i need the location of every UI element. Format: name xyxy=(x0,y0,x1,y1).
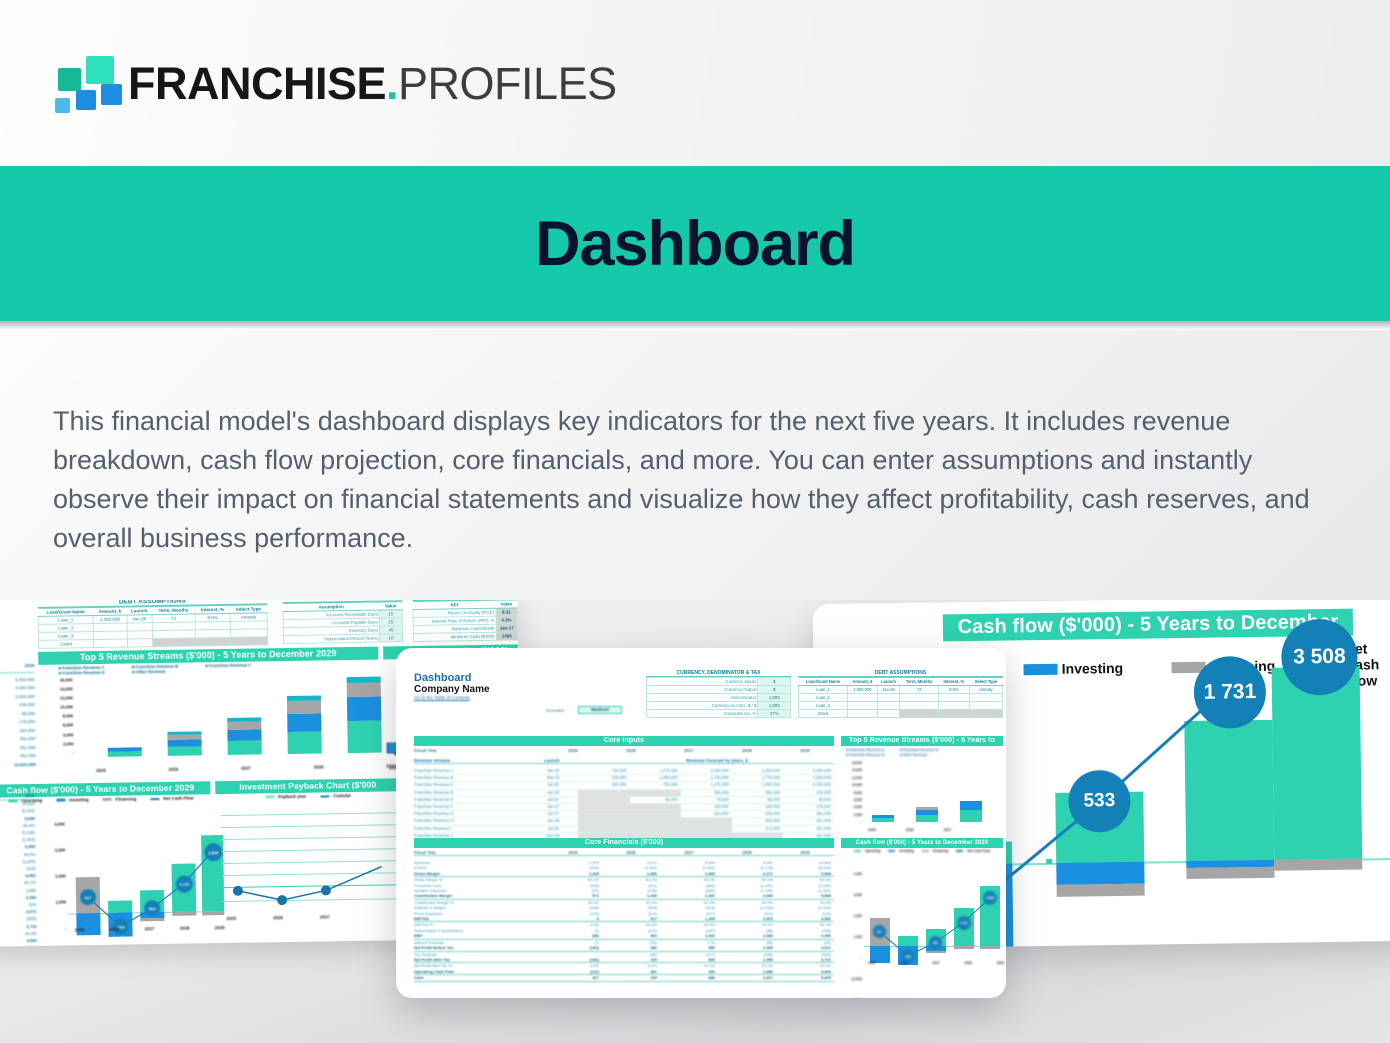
center-subtitle: Company Name xyxy=(414,684,490,695)
core-financials-year-row: Fiscal Year 2025 2026 2027 2028 2029 xyxy=(414,850,834,856)
center-top5-legend: ■ Franchise Revenue A ■ Franchise Revenu… xyxy=(846,748,1006,758)
legend-investing: Investing xyxy=(1024,660,1124,677)
center-dashboard-heading: Dashboard Company Name Go to the Table o… xyxy=(414,672,490,700)
revenue-y-axis: 16,00014,00012,00010,0008,0006,0004,0002… xyxy=(47,675,74,757)
center-debt-table: DEBT ASSUMPTIONS Loan/Grant Name Amount,… xyxy=(798,670,1003,718)
center-dashboard-panel[interactable]: Dashboard Company Name Go to the Table o… xyxy=(396,648,1006,998)
revenue-x-axis: 20252026202720282029 xyxy=(96,763,396,773)
scenario-select[interactable]: Medium xyxy=(578,706,622,714)
center-cashflow-legend: Operating Investing Financing Net Cash F… xyxy=(841,849,1003,853)
financial-rows-container: Revenue1,5753,4715,0548,64114,920COGS(25… xyxy=(414,860,834,982)
page-header: FRANCHISE.PROFILES xyxy=(0,0,1390,166)
page-banner: Dashboard xyxy=(0,166,1390,321)
km-table: KPIValue Return on Equity (ROE)8.31 Inte… xyxy=(412,600,518,642)
revenue-rows-container: Franchise Revenue AJan-25750,0001,275,00… xyxy=(414,768,834,847)
table-row: Denominator1,000 xyxy=(647,694,791,702)
table-row: Franchise Revenue BMar-25525,0001,050,00… xyxy=(414,775,834,782)
left-cashflow-chart: 4,0003,0002,0001,000-(1,000)(2,000) 917 xyxy=(41,803,223,931)
table-row: Currency Output$ xyxy=(647,686,791,694)
banner-shadow xyxy=(0,321,1390,330)
table-row: Currency Inputs$ xyxy=(647,678,791,686)
key-metrics-table: KEY METRICS KPIValue Return on Equity (R… xyxy=(412,600,518,642)
four-squares-logo-icon xyxy=(50,54,114,112)
currency-rows-table: Currency Inputs$ Currency Output$ Denomi… xyxy=(646,677,791,718)
table-row: Corporate tax, %27% xyxy=(647,710,791,718)
currency-table: CURRENCY, DENOMINATOR & TAX Currency Inp… xyxy=(646,670,791,718)
brand-name-dot: . xyxy=(386,58,398,109)
table-row: Franchise Revenue FJan-27150,000160,0001… xyxy=(414,804,834,811)
wc-table: AssumptionValue Accounts Receivable Days… xyxy=(282,601,403,644)
core-inputs-year-row: Fiscal Year 2025 2026 2027 2028 2029 xyxy=(414,748,834,753)
table-row: Cash9171546862,9175,925 xyxy=(414,975,834,981)
center-top5-title: Top 5 Revenue Streams ($'000) - 5 Years … xyxy=(841,736,1003,746)
side-values-column-a: 2029 5,250,000 4,250,000 3,300,000 436,0… xyxy=(0,662,36,770)
left-payback-line xyxy=(221,802,403,927)
scenario-label: Scenario xyxy=(546,708,564,713)
table-row: Franchise Revenue AJan-25750,0001,275,00… xyxy=(414,768,834,775)
table-row: Franchise Revenue DApr-26330,000382,0004… xyxy=(414,790,834,797)
revenue-forecast-header: Revenue streams Launch Revenue Forecast … xyxy=(414,758,834,764)
debt-table: Loan/Grant Name Amount, $ Launch Term, M… xyxy=(37,604,268,649)
revenue-streams-chart: 16,00014,00012,00010,0008,0006,0004,0002… xyxy=(47,671,379,776)
table-row: Franchise Revenue IJul-28272,000351,000 xyxy=(414,826,834,833)
center-debt-rows: Loan/Grant Name Amount, $ Launch Term, M… xyxy=(798,677,1003,718)
center-debt-title: DEBT ASSUMPTIONS xyxy=(798,670,1003,677)
center-cashflow-title: Cash flow ($'000) - 5 Years to December … xyxy=(841,838,1003,848)
table-row: Loan_1 1,000,000 Jan-25 72 8.0% Annuity xyxy=(799,686,1003,694)
brand-name-bold: FRANCHISE xyxy=(128,58,386,109)
table-row: Depreciation Period (Years)10 xyxy=(283,634,402,644)
brand-wordmark: FRANCHISE.PROFILES xyxy=(128,61,617,106)
center-title: Dashboard xyxy=(414,672,490,684)
working-capital-table: WORKING CAPITAL & DEPRECIATION Assumptio… xyxy=(282,600,403,644)
left-cf-netline xyxy=(41,803,223,941)
table-row: Franchise Revenue HApr-28325,000351,000 xyxy=(414,818,834,825)
left-payback-chart: 202520262027 xyxy=(221,802,403,927)
toc-link[interactable]: Go to the Table of Contents xyxy=(414,695,490,700)
brand-name-thin: PROFILES xyxy=(398,58,617,109)
table-row: Currency ex USA, $ / $1,000 xyxy=(647,702,791,710)
center-top5-chart: 16,00014,00012,00010,0008,0006,0004,0002… xyxy=(844,760,1004,832)
description-text: This financial model's dashboard display… xyxy=(53,402,1343,558)
table-row: Loan_2 xyxy=(799,694,1003,702)
table-row: Grant xyxy=(799,710,1003,718)
side-values-column-b: 2029 14,920 (5,222) 9,698 65.0% (2,230) … xyxy=(0,792,37,948)
table-row: Loan_3 xyxy=(799,702,1003,710)
screenshot-stage: & TAX $ $ 1,000 1,000 15% DEBT ASSUMPTIO… xyxy=(0,600,1390,1043)
table-row: Franchise Revenue GJul-27264,000240,0002… xyxy=(414,811,834,818)
center-cashflow-chart: 4,0003,0002,0001,000-(1,000)(2,000) 917 … xyxy=(844,858,1004,963)
page-title: Dashboard xyxy=(535,208,855,280)
table-row: Minimum Cash ($'000)1365 xyxy=(413,632,517,642)
table-row: Franchise Revenue EJul-2656,00070,00080,… xyxy=(414,797,834,804)
currency-section-title: CURRENCY, DENOMINATOR & TAX xyxy=(646,670,791,677)
table-row: Franchise Revenue CJul-25300,000750,0001… xyxy=(414,782,834,789)
core-inputs-title: Core Inputs xyxy=(414,736,834,746)
debt-assumptions-table: DEBT ASSUMPTIONS Loan/Grant Name Amount,… xyxy=(37,600,268,649)
core-financials-title: Core Financials ($'000) xyxy=(414,838,834,848)
description-area: This financial model's dashboard display… xyxy=(0,330,1390,600)
brand-logo: FRANCHISE.PROFILES xyxy=(50,54,617,112)
